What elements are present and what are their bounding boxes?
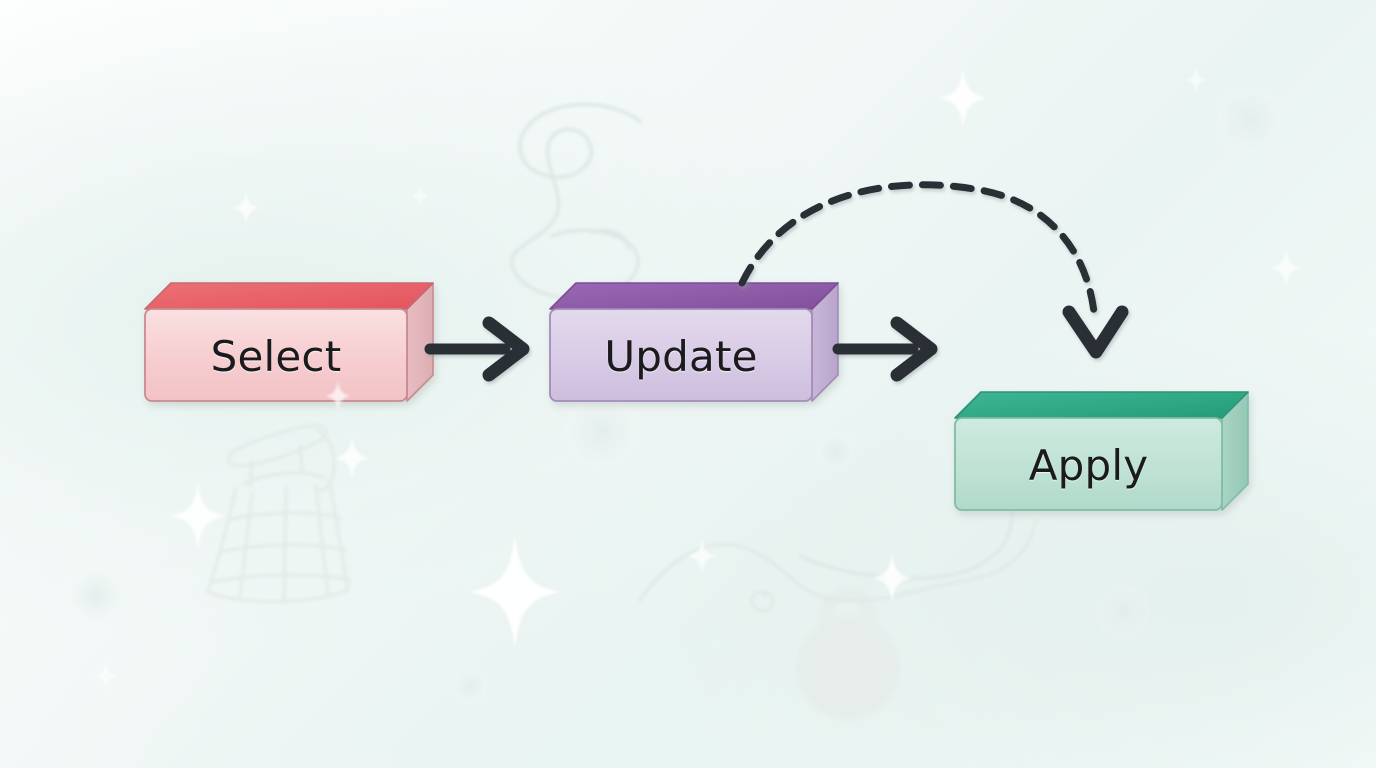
node-select-label: Select	[145, 332, 407, 381]
node-update[interactable]: Update	[537, 270, 849, 420]
nodes-layer: Select	[0, 0, 1376, 768]
node-update-label: Update	[550, 332, 812, 381]
node-apply[interactable]: Apply	[942, 379, 1259, 529]
diagram-canvas: Select	[0, 0, 1376, 768]
node-select[interactable]: Select	[132, 270, 444, 420]
node-apply-label: Apply	[955, 441, 1222, 490]
